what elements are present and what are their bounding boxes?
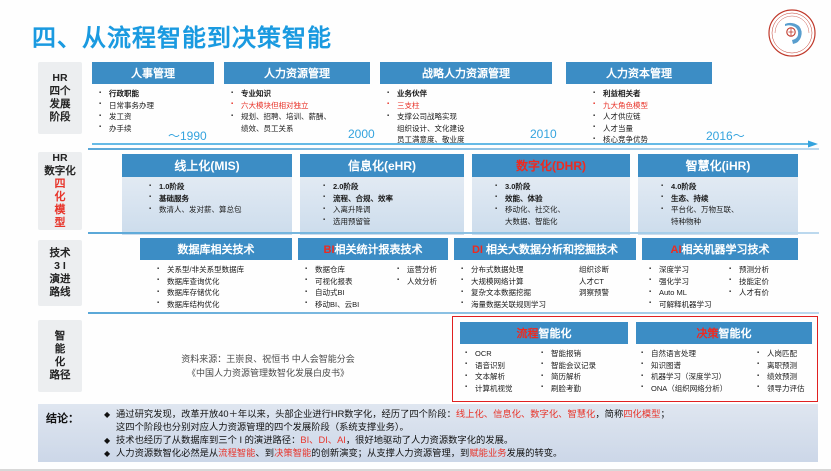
list-item: 日常事务办理 xyxy=(98,100,210,112)
list-item: 数清人、发对薪、算总包 xyxy=(148,204,288,216)
list-item: 智能报销 xyxy=(540,348,624,360)
card-body: 关系型/非关系型数据库 数据库查询优化 数据库存储优化 数据库结构优化 xyxy=(140,260,292,312)
row-label-line: 技术 xyxy=(50,247,71,260)
row-label-line: 四 xyxy=(55,178,66,191)
card-body: 数据仓库 可视化报表 自动式BI 移动BI、云BI 运营分析 人效分析 xyxy=(298,260,448,312)
list-item: 自动式BI xyxy=(304,287,392,299)
conclusion-line: 通过研究发现，改革开放40＋年以来，头部企业进行HR数字化，经历了四个阶段：线上… xyxy=(104,408,812,421)
list-item: 智能会议记录 xyxy=(540,360,624,372)
list-item: 大数据、智能化 xyxy=(494,216,626,228)
card-title: 人力资源管理 xyxy=(224,62,370,84)
source-note: 资料来源：王崇良、祝恒书 中人会智能分会 《中国人力资源管理数智化发展白皮书》 xyxy=(118,352,418,380)
card-title: 流程智能化 xyxy=(460,322,628,344)
list-item: 入离升降调 xyxy=(322,204,460,216)
card-title: BI相关统计报表技术 xyxy=(298,238,448,260)
list-item: 流程、合规、效率 xyxy=(322,193,460,205)
card-body: 业务伙伴 三支柱 支撑公司战略实现 组织设计、文化建设 员工满意度、敬业度 xyxy=(380,84,552,148)
list-item: 深度学习 xyxy=(648,264,724,276)
list-item: 预测分析 xyxy=(728,264,794,276)
plain-text: 、到 xyxy=(255,448,274,458)
list-item: 刷脸考勤 xyxy=(540,383,624,395)
list-item: 九大角色模型 xyxy=(592,100,708,112)
plain-text: 人力资源数智化必然是从 xyxy=(116,448,218,458)
list-item: 平台化、万物互联、 xyxy=(660,204,794,216)
row-label-hr-stages: HR 四个 发展 阶段 xyxy=(38,62,82,134)
list-item: 洞察预警 xyxy=(568,287,632,299)
card-personnel-management[interactable]: 人事管理 行政职能 日常事务办理 发工资 办手续 xyxy=(92,62,214,136)
list-item: 三支柱 xyxy=(386,100,548,112)
highlight-text: 赋能业务 xyxy=(469,448,506,458)
row-label-line: 阶段 xyxy=(50,111,71,124)
list-item: OCR xyxy=(464,348,536,360)
list-item: 可解释机器学习 xyxy=(648,299,724,311)
list-item: 分布式数据处理 xyxy=(460,264,564,276)
list-item: 文本解析 xyxy=(464,371,536,383)
conclusion-label: 结论： xyxy=(46,408,104,458)
source-line: 资料来源：王崇良、祝恒书 中人会智能分会 xyxy=(118,352,418,366)
card-title-text: 智能化 xyxy=(719,328,752,340)
list-item: 发工资 xyxy=(98,111,210,123)
list-item: 利益相关者 xyxy=(592,88,708,100)
list-item: 组织诊断 xyxy=(568,264,632,276)
card-body: OCR 语音识别 文本解析 计算机视觉 智能报销 智能会议记录 简历解析 刷脸考… xyxy=(460,344,628,396)
card-database-tech[interactable]: 数据库相关技术 关系型/非关系型数据库 数据库查询优化 数据库存储优化 数据库结… xyxy=(140,238,292,312)
list-item: 数据库结构优化 xyxy=(156,299,288,311)
list-item: 基础服务 xyxy=(148,193,288,205)
card-body: 深度学习 强化学习 Auto ML 可解释机器学习 预测分析 技能定价 人才有价 xyxy=(642,260,798,312)
card-title: 战略人力资源管理 xyxy=(380,62,552,84)
list-item: 人效分析 xyxy=(396,276,444,288)
row-label-line: HR xyxy=(52,72,67,85)
list-item: 移动BI、云BI xyxy=(304,299,392,311)
list-item: 特种物种 xyxy=(660,216,794,228)
list-item: 4.0阶段 xyxy=(660,181,794,193)
list-item: 1.0阶段 xyxy=(148,181,288,193)
card-title-prefix: DI xyxy=(472,244,483,256)
row-label-hr-digital-model: HR 数字化 四 化 模 型 xyxy=(38,152,82,230)
list-item: 2.0阶段 xyxy=(322,181,460,193)
list-item: 生态、持续 xyxy=(660,193,794,205)
slide-canvas: 四、从流程智能到决策智能 HR 四个 发展 阶段 人事管理 行政职能 日常事务办… xyxy=(0,0,831,471)
row-label-line: 3 I xyxy=(54,260,66,273)
list-item: 语音识别 xyxy=(464,360,536,372)
list-item: 领导力评估 xyxy=(756,383,808,395)
highlight-text: 流程智能 xyxy=(218,448,255,458)
row-label-line: 模 xyxy=(55,204,66,217)
row-label-line: 发展 xyxy=(50,98,71,111)
list-item: 技能定价 xyxy=(728,276,794,288)
card-informatization-ehr[interactable]: 信息化(eHR) 2.0阶段 流程、合规、效率 入离升降调 选用预留管 xyxy=(300,154,464,235)
row-divider xyxy=(88,312,819,314)
timeline-arrow xyxy=(92,140,818,148)
row-label-line: 化 xyxy=(55,191,66,204)
card-human-capital-management[interactable]: 人力资本管理 利益相关者 九大角色模型 人才供应链 人才当量 核心竞争优势 xyxy=(566,62,712,148)
page-title: 四、从流程智能到决策智能 xyxy=(32,18,332,53)
list-item: 人才有价 xyxy=(728,287,794,299)
row-label-line: 路线 xyxy=(50,286,71,299)
card-process-intelligence[interactable]: 流程智能化 OCR 语音识别 文本解析 计算机视觉 智能报销 智能会议记录 简历… xyxy=(460,322,628,396)
row-label-line: 智 xyxy=(55,330,66,343)
list-item: 效能、体验 xyxy=(494,193,626,205)
row-divider xyxy=(88,148,819,150)
list-item: 人才CT xyxy=(568,276,632,288)
card-digitalization-dhr[interactable]: 数字化(DHR) 3.0阶段 效能、体验 移动化、社交化、 大数据、智能化 xyxy=(472,154,630,235)
highlight-text: 决策智能 xyxy=(274,448,311,458)
plain-text: ，很好地驱动了人力资源数字化的发展。 xyxy=(346,435,513,445)
card-body: 分布式数据处理 大规模网络计算 复杂文本数据挖掘 海量数据关联规则学习 组织诊断… xyxy=(454,260,636,312)
list-item: 机器学习（深度学习） xyxy=(640,371,752,383)
list-item: 数据库查询优化 xyxy=(156,276,288,288)
card-title-text: 相关统计报表技术 xyxy=(335,244,423,256)
conclusion-line: 这四个阶段也分别对应人力资源管理的四个发展阶段（系统支撑业务）。 xyxy=(104,421,812,434)
card-title: DI 相关大数据分析和挖掘技术 xyxy=(454,238,636,260)
list-item: 关系型/非关系型数据库 xyxy=(156,264,288,276)
row-label-intelligent-path: 智 能 化 路径 xyxy=(38,320,82,392)
card-body: 3.0阶段 效能、体验 移动化、社交化、 大数据、智能化 xyxy=(472,177,630,235)
card-body: 4.0阶段 生态、持续 平台化、万物互联、 特种物种 xyxy=(638,177,798,235)
list-item: 可视化报表 xyxy=(304,276,392,288)
list-item: 规划、招聘、培训、薪酬、 xyxy=(230,111,366,123)
list-item: 组织设计、文化建设 xyxy=(386,123,548,135)
card-body: 2.0阶段 流程、合规、效率 入离升降调 选用预留管 xyxy=(300,177,464,235)
org-seal-logo xyxy=(767,8,817,58)
card-title-prefix: 决策 xyxy=(697,328,719,340)
highlight-text: 线上化、信息化、数字化、智慧化 xyxy=(456,409,595,419)
list-item: 3.0阶段 xyxy=(494,181,626,193)
list-item: 复杂文本数据挖掘 xyxy=(460,287,564,299)
card-bi-reporting-tech[interactable]: BI相关统计报表技术 数据仓库 可视化报表 自动式BI 移动BI、云BI 运营分… xyxy=(298,238,448,312)
list-item: 简历解析 xyxy=(540,371,624,383)
card-title-text: 相关机器学习技术 xyxy=(682,244,770,256)
card-strategic-hr-management[interactable]: 战略人力资源管理 业务伙伴 三支柱 支撑公司战略实现 组织设计、文化建设 员工满… xyxy=(380,62,552,148)
row-label-line: 化 xyxy=(55,356,66,369)
card-title-text: 数字化(DHR) xyxy=(516,159,586,173)
row-label-tech-3i-path: 技术 3 I 演进 路线 xyxy=(38,240,82,306)
plain-text: 技术也经历了从数据库到三个 I 的演进路径： xyxy=(116,435,300,445)
list-item: 数据仓库 xyxy=(304,264,392,276)
list-item: 自然语言处理 xyxy=(640,348,752,360)
card-title-prefix: BI xyxy=(324,244,335,256)
list-item: 大规模网络计算 xyxy=(460,276,564,288)
list-item: 人才供应链 xyxy=(592,111,708,123)
row-label-line: 路径 xyxy=(50,369,71,382)
highlight-text: BI、DI、AI xyxy=(300,435,345,445)
list-item: 支撑公司战略实现 xyxy=(386,111,548,123)
source-line: 《中国人力资源管理数智化发展白皮书》 xyxy=(118,366,418,380)
list-item: 人才当量 xyxy=(592,123,708,135)
highlight-text: 四化模型 xyxy=(623,409,660,419)
list-item: 专业知识 xyxy=(230,88,366,100)
row-label-line: 数字化 xyxy=(44,165,76,178)
plain-text: 通过研究发现，改革开放40＋年以来，头部企业进行HR数字化，经历了四个阶段： xyxy=(116,409,456,419)
card-hr-management[interactable]: 人力资源管理 专业知识 六大模块但相对独立 规划、招聘、培训、薪酬、 绩效、员工… xyxy=(224,62,370,136)
card-title: 智慧化(iHR) xyxy=(638,154,798,177)
list-item: 离职预测 xyxy=(756,360,808,372)
conclusion-lines: 通过研究发现，改革开放40＋年以来，头部企业进行HR数字化，经历了四个阶段：线上… xyxy=(104,408,812,458)
list-item: 绩效、员工关系 xyxy=(230,123,366,135)
list-item: 选用预留管 xyxy=(322,216,460,228)
list-item: 六大模块但相对独立 xyxy=(230,100,366,112)
plain-text: ，简称 xyxy=(595,409,623,419)
list-item: Auto ML xyxy=(648,287,724,299)
card-di-bigdata-tech[interactable]: DI 相关大数据分析和挖掘技术 分布式数据处理 大规模网络计算 复杂文本数据挖掘… xyxy=(454,238,636,312)
row-label-line: HR xyxy=(52,152,67,165)
list-item: 计算机视觉 xyxy=(464,383,536,395)
card-decision-intelligence[interactable]: 决策智能化 自然语言处理 知识图谱 机器学习（深度学习） ONA（组织网络分析）… xyxy=(636,322,812,396)
row-label-line: 四个 xyxy=(50,85,71,98)
card-title-text: 相关大数据分析和挖掘技术 xyxy=(483,244,618,256)
list-item: 行政职能 xyxy=(98,88,210,100)
conclusion-panel: 结论： 通过研究发现，改革开放40＋年以来，头部企业进行HR数字化，经历了四个阶… xyxy=(38,404,818,462)
card-title: AI相关机器学习技术 xyxy=(642,238,798,260)
card-intelligence-ihr[interactable]: 智慧化(iHR) 4.0阶段 生态、持续 平台化、万物互联、 特种物种 xyxy=(638,154,798,235)
timeline-year-2000: 2000 xyxy=(348,127,375,141)
card-title-text: 智能化 xyxy=(539,328,572,340)
list-item: 知识图谱 xyxy=(640,360,752,372)
row-divider xyxy=(88,232,819,234)
card-title: 线上化(MIS) xyxy=(122,154,292,177)
card-title-prefix: 流程 xyxy=(517,328,539,340)
row-label-line: 演进 xyxy=(50,273,71,286)
card-title: 决策智能化 xyxy=(636,322,812,344)
plain-text: ； xyxy=(660,409,669,419)
plain-text: 发展的转变。 xyxy=(507,448,563,458)
list-item: 移动化、社交化、 xyxy=(494,204,626,216)
plain-text: 的创新演变；从支撑人力资源管理，到 xyxy=(311,448,469,458)
card-title: 人事管理 xyxy=(92,62,214,84)
card-title-prefix: AI xyxy=(671,244,682,256)
list-item: 绩效预测 xyxy=(756,371,808,383)
card-body: 1.0阶段 基础服务 数清人、发对薪、算总包 xyxy=(122,177,292,235)
card-ai-ml-tech[interactable]: AI相关机器学习技术 深度学习 强化学习 Auto ML 可解释机器学习 预测分… xyxy=(642,238,798,312)
row-label-line: 型 xyxy=(55,217,66,230)
list-item: ONA（组织网络分析） xyxy=(640,383,752,395)
list-item: 强化学习 xyxy=(648,276,724,288)
list-item: 数据库存储优化 xyxy=(156,287,288,299)
conclusion-line: 人力资源数智化必然是从流程智能、到决策智能的创新演变；从支撑人力资源管理，到赋能… xyxy=(104,447,812,460)
card-online-mis[interactable]: 线上化(MIS) 1.0阶段 基础服务 数清人、发对薪、算总包 xyxy=(122,154,292,235)
card-title: 信息化(eHR) xyxy=(300,154,464,177)
list-item: 运营分析 xyxy=(396,264,444,276)
card-title: 数字化(DHR) xyxy=(472,154,630,177)
list-item: 人岗匹配 xyxy=(756,348,808,360)
card-body: 自然语言处理 知识图谱 机器学习（深度学习） ONA（组织网络分析） 人岗匹配 … xyxy=(636,344,812,396)
conclusion-line: 技术也经历了从数据库到三个 I 的演进路径：BI、DI、AI，很好地驱动了人力资… xyxy=(104,434,812,447)
row-label-line: 能 xyxy=(55,343,66,356)
card-title: 数据库相关技术 xyxy=(140,238,292,260)
plain-text: 这四个阶段也分别对应人力资源管理的四个发展阶段（系统支撑业务）。 xyxy=(116,422,409,432)
list-item: 海量数据关联规则学习 xyxy=(460,299,564,311)
timeline-year-2010: 2010 xyxy=(530,127,557,141)
list-item: 业务伙伴 xyxy=(386,88,548,100)
card-title: 人力资本管理 xyxy=(566,62,712,84)
card-body: 利益相关者 九大角色模型 人才供应链 人才当量 核心竞争优势 xyxy=(566,84,712,148)
